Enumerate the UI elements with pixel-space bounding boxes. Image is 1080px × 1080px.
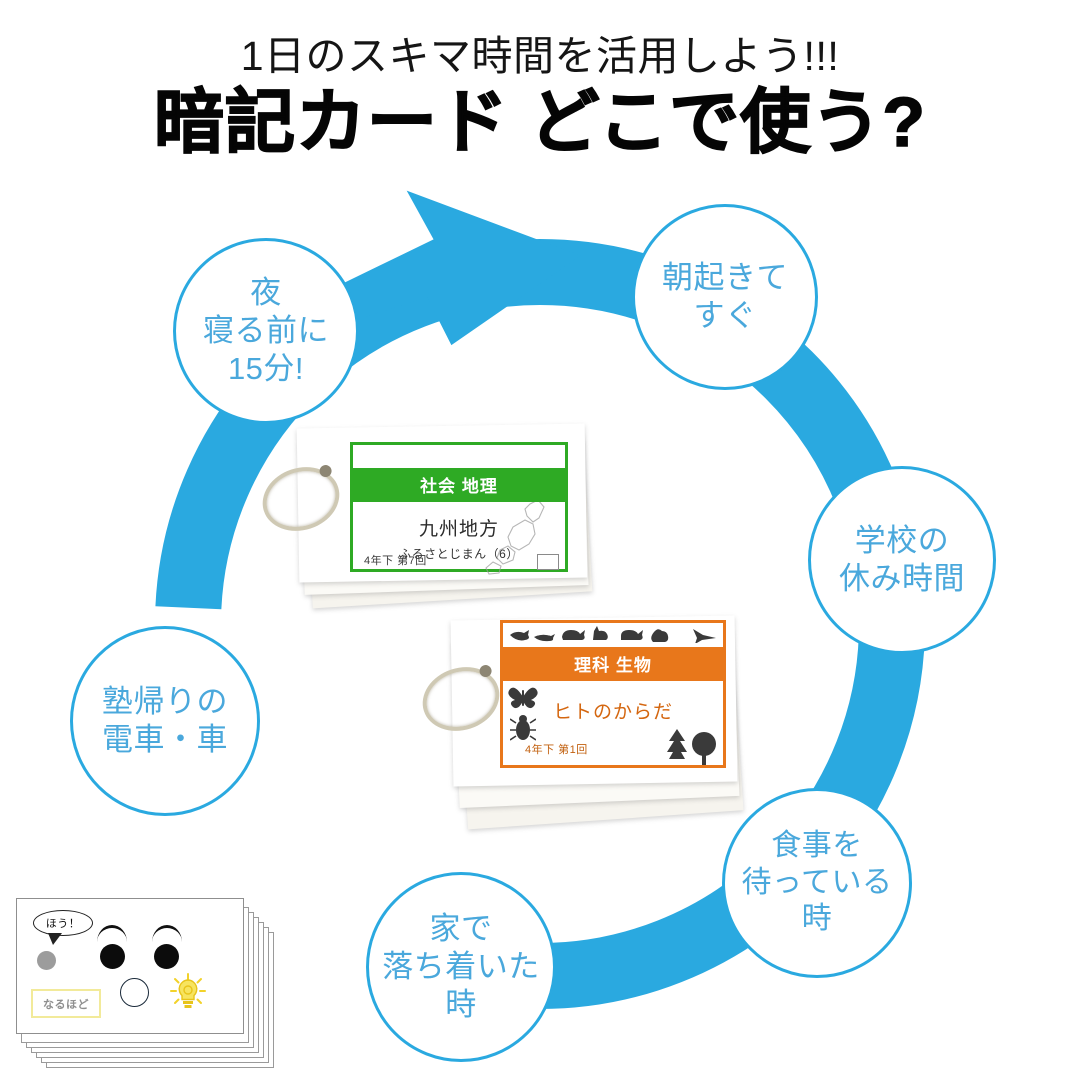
bubble-morning-label: 朝起きて すぐ xyxy=(656,259,794,335)
bubble-school-break[interactable]: 学校の 休み時間 xyxy=(808,466,996,654)
face-card-stack[interactable]: ほう！ なるほど xyxy=(16,898,278,1076)
speech-bubble: ほう！ xyxy=(33,910,93,936)
flashcard-group-rika[interactable]: 理科 生物 xyxy=(436,606,756,866)
card-body-rika: ヒトのからだ 4年下 第1回 xyxy=(503,681,723,769)
card-top-strip xyxy=(353,445,565,468)
card-lesson-rika: 4年下 第1回 xyxy=(525,741,588,757)
butterfly-icon xyxy=(508,684,538,710)
infographic-canvas: 1日のスキマ時間を活用しよう!!! 暗記カード どこで使う? 夜 寝る前に 15… xyxy=(0,0,1080,1080)
bubble-cram-commute[interactable]: 塾帰りの 電車・車 xyxy=(70,626,260,816)
card-subject-rika: 理科 生物 xyxy=(503,647,723,681)
mouth-icon xyxy=(120,978,149,1007)
bubble-night-label: 夜 寝る前に 15分! xyxy=(197,274,335,387)
gray-dot-icon xyxy=(37,951,56,970)
bubble-home-label: 家で 落ち着いた 時 xyxy=(376,910,546,1023)
header: 1日のスキマ時間を活用しよう!!! 暗記カード どこで使う? xyxy=(0,0,1080,161)
page-title: 暗記カード どこで使う? xyxy=(0,85,1080,161)
naruhodo-badge: なるほど xyxy=(31,989,101,1018)
eyebrow-right-icon xyxy=(152,925,182,942)
card-lesson-shakai: 4年下 第7回 xyxy=(364,552,427,568)
eye-left-icon xyxy=(100,944,125,969)
flashcard-shakai[interactable]: 社会 地理 九州地方 ふるさとじまん（6） 4年下 第7回 xyxy=(350,442,568,572)
bubble-waiting-meal[interactable]: 食事を 待っている時 xyxy=(722,788,912,978)
bubble-morning[interactable]: 朝起きて すぐ xyxy=(632,204,818,390)
map-inset-box xyxy=(537,554,559,570)
eyebrow-left-icon xyxy=(97,925,127,942)
bubble-school-label: 学校の 休み時間 xyxy=(833,522,971,598)
animal-silhouettes-icon xyxy=(508,625,718,643)
flashcard-rika[interactable]: 理科 生物 xyxy=(500,620,726,768)
naruhodo-label: なるほど xyxy=(43,996,89,1012)
eye-right-icon xyxy=(154,944,179,969)
subtitle: 1日のスキマ時間を活用しよう!!! xyxy=(0,34,1080,79)
flashcard-group-shakai[interactable]: 社会 地理 九州地方 ふるさとじまん（6） 4年下 第7回 xyxy=(286,418,606,618)
cycle-arrow-icon xyxy=(330,170,670,380)
beetle-icon xyxy=(510,711,536,741)
face-card-front[interactable]: ほう！ なるほど xyxy=(16,898,244,1034)
card-subject-shakai: 社会 地理 xyxy=(353,468,565,502)
speech-bubble-label: ほう！ xyxy=(46,915,81,931)
card-body-shakai: 九州地方 ふるさとじまん（6） 4年下 第7回 xyxy=(353,502,565,576)
bubble-night[interactable]: 夜 寝る前に 15分! xyxy=(173,238,359,424)
bubble-home-relax[interactable]: 家で 落ち着いた 時 xyxy=(366,872,556,1062)
bubble-meal-label: 食事を 待っている時 xyxy=(725,828,909,938)
bubble-cram-label: 塾帰りの 電車・車 xyxy=(96,683,234,759)
animal-silhouette-strip xyxy=(503,623,723,647)
trees-icon xyxy=(663,727,717,767)
lightbulb-icon xyxy=(169,973,207,1011)
